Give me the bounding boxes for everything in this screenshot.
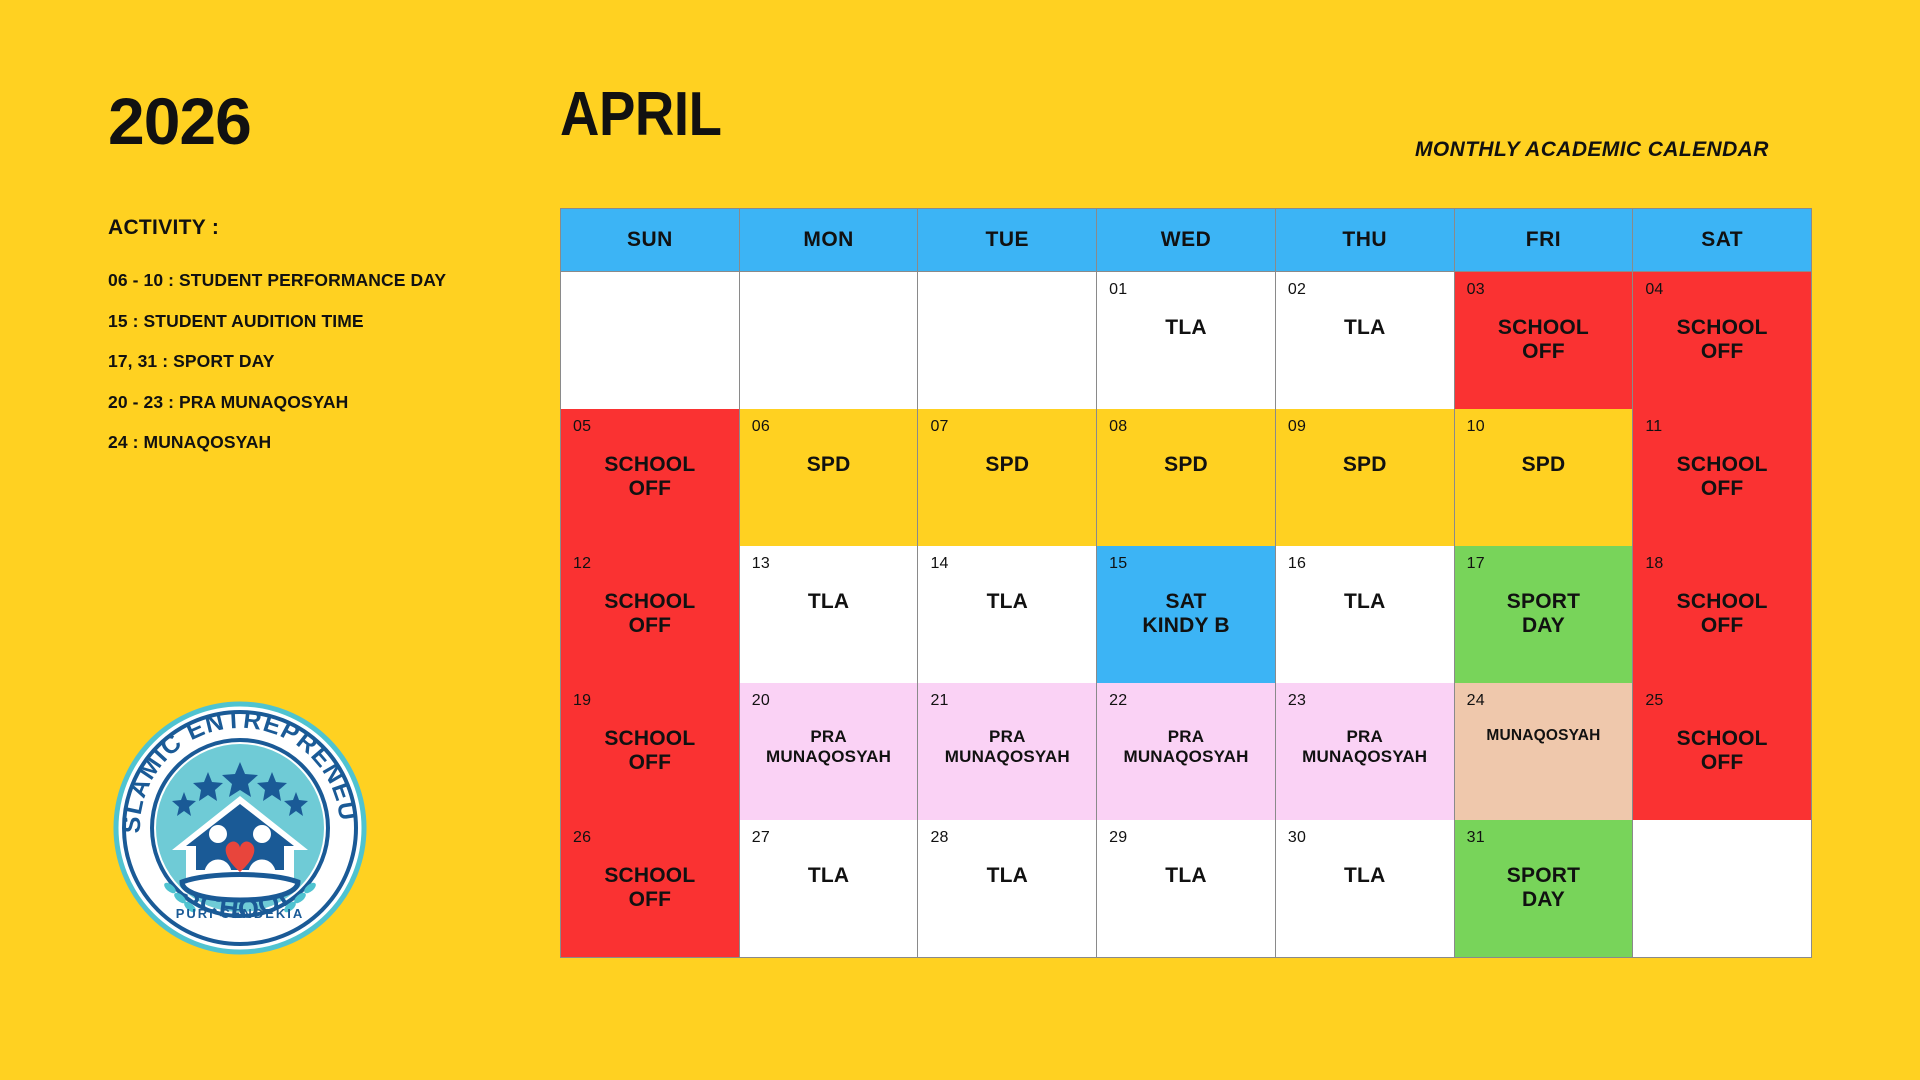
calendar-week-row: 12SCHOOL OFF13TLA14TLA15SAT KINDY B16TLA… (561, 546, 1811, 683)
year-heading: 2026 (108, 88, 251, 154)
day-number: 19 (573, 693, 731, 709)
day-number: 13 (752, 556, 910, 572)
calendar-day-cell[interactable]: 25SCHOOL OFF (1633, 683, 1811, 820)
day-event-label: SCHOOL OFF (567, 453, 733, 501)
day-number: 30 (1288, 830, 1446, 846)
weekday-header-tue: TUE (918, 209, 1096, 271)
month-title: APRIL (560, 84, 721, 146)
calendar-day-cell[interactable]: 11SCHOOL OFF (1633, 409, 1811, 546)
calendar-weeks: 01TLA02TLA03SCHOOL OFF04SCHOOL OFF05SCHO… (561, 272, 1811, 957)
day-number: 21 (930, 693, 1088, 709)
activity-item: 15 : STUDENT AUDITION TIME (108, 313, 538, 331)
calendar-day-cell[interactable]: 28TLA (918, 820, 1096, 957)
day-event-label: MUNAQOSYAH (1461, 727, 1627, 745)
day-number: 15 (1109, 556, 1267, 572)
day-event-label: SPD (1461, 453, 1627, 477)
calendar-day-cell[interactable]: 16TLA (1276, 546, 1454, 683)
day-event-label: SPORT DAY (1461, 864, 1627, 912)
day-event-label: TLA (924, 864, 1090, 888)
calendar-week-row: 26SCHOOL OFF27TLA28TLA29TLA30TLA31SPORT … (561, 820, 1811, 957)
weekday-header-sat: SAT (1633, 209, 1811, 271)
day-number: 03 (1467, 282, 1625, 298)
calendar-day-cell[interactable]: 02TLA (1276, 272, 1454, 409)
activity-item: 06 - 10 : STUDENT PERFORMANCE DAY (108, 272, 538, 290)
day-event-label: SPD (924, 453, 1090, 477)
activity-item: 20 - 23 : PRA MUNAQOSYAH (108, 394, 538, 412)
book-icon (182, 875, 298, 901)
day-event-label: TLA (1282, 590, 1448, 614)
calendar-week-row: 01TLA02TLA03SCHOOL OFF04SCHOOL OFF (561, 272, 1811, 409)
calendar-day-cell[interactable]: 13TLA (740, 546, 918, 683)
day-event-label: SCHOOL OFF (1639, 590, 1805, 638)
calendar-day-cell[interactable]: 14TLA (918, 546, 1096, 683)
day-number: 11 (1645, 419, 1803, 435)
day-number: 09 (1288, 419, 1446, 435)
day-number: 18 (1645, 556, 1803, 572)
day-event-label: TLA (1103, 864, 1269, 888)
day-event-label: PRA MUNAQOSYAH (1282, 727, 1448, 766)
calendar-day-cell[interactable]: 31SPORT DAY (1455, 820, 1633, 957)
calendar-day-cell[interactable]: 24MUNAQOSYAH (1455, 683, 1633, 820)
day-event-label: SPD (1103, 453, 1269, 477)
calendar-week-row: 19SCHOOL OFF20PRA MUNAQOSYAH21PRA MUNAQO… (561, 683, 1811, 820)
day-number: 01 (1109, 282, 1267, 298)
weekday-header-mon: MON (740, 209, 918, 271)
calendar-day-cell[interactable]: 30TLA (1276, 820, 1454, 957)
activity-list: 06 - 10 : STUDENT PERFORMANCE DAY 15 : S… (108, 272, 538, 475)
day-number: 26 (573, 830, 731, 846)
calendar-day-cell[interactable]: 09SPD (1276, 409, 1454, 546)
calendar-day-cell[interactable]: 20PRA MUNAQOSYAH (740, 683, 918, 820)
day-number: 28 (930, 830, 1088, 846)
day-event-label: SPD (1282, 453, 1448, 477)
day-number: 07 (930, 419, 1088, 435)
logo-inner-text: PURI CENDEKIA (176, 906, 305, 921)
calendar-day-cell[interactable]: 15SAT KINDY B (1097, 546, 1275, 683)
calendar-subtitle: MONTHLY ACADEMIC CALENDAR (1415, 138, 1769, 162)
day-number: 31 (1467, 830, 1625, 846)
day-event-label: TLA (746, 590, 912, 614)
day-event-label: SPD (746, 453, 912, 477)
day-number: 02 (1288, 282, 1446, 298)
calendar-empty-cell (561, 272, 739, 409)
calendar-day-cell[interactable]: 10SPD (1455, 409, 1633, 546)
calendar-empty-cell (740, 272, 918, 409)
day-number: 29 (1109, 830, 1267, 846)
day-event-label: SCHOOL OFF (567, 864, 733, 912)
calendar-day-cell[interactable]: 05SCHOOL OFF (561, 409, 739, 546)
calendar-day-cell[interactable]: 22PRA MUNAQOSYAH (1097, 683, 1275, 820)
day-number: 25 (1645, 693, 1803, 709)
calendar-day-cell[interactable]: 26SCHOOL OFF (561, 820, 739, 957)
calendar-empty-cell (1633, 820, 1811, 957)
day-event-label: TLA (1103, 316, 1269, 340)
day-event-label: SCHOOL OFF (567, 727, 733, 775)
calendar-grid: SUN MON TUE WED THU FRI SAT 01TLA02TLA03… (560, 208, 1812, 958)
calendar-day-cell[interactable]: 18SCHOOL OFF (1633, 546, 1811, 683)
day-event-label: SCHOOL OFF (1639, 727, 1805, 775)
day-event-label: SAT KINDY B (1103, 590, 1269, 638)
day-event-label: SCHOOL OFF (567, 590, 733, 638)
calendar-day-cell[interactable]: 07SPD (918, 409, 1096, 546)
calendar-day-cell[interactable]: 08SPD (1097, 409, 1275, 546)
day-number: 12 (573, 556, 731, 572)
calendar-day-cell[interactable]: 01TLA (1097, 272, 1275, 409)
day-event-label: TLA (1282, 316, 1448, 340)
day-number: 08 (1109, 419, 1267, 435)
day-number: 04 (1645, 282, 1803, 298)
day-event-label: TLA (746, 864, 912, 888)
day-event-label: TLA (924, 590, 1090, 614)
day-event-label: PRA MUNAQOSYAH (1103, 727, 1269, 766)
day-number: 20 (752, 693, 910, 709)
calendar-day-cell[interactable]: 12SCHOOL OFF (561, 546, 739, 683)
calendar-day-cell[interactable]: 21PRA MUNAQOSYAH (918, 683, 1096, 820)
weekday-header-wed: WED (1097, 209, 1275, 271)
activity-item: 24 : MUNAQOSYAH (108, 434, 538, 452)
day-number: 05 (573, 419, 731, 435)
day-number: 24 (1467, 693, 1625, 709)
day-event-label: SCHOOL OFF (1639, 453, 1805, 501)
school-logo: ISLAMIC ENTREPRENEUR SCHOOL (112, 700, 368, 956)
activity-section-title: ACTIVITY : (108, 216, 219, 240)
calendar-day-cell[interactable]: 03SCHOOL OFF (1455, 272, 1633, 409)
day-event-label: SCHOOL OFF (1639, 316, 1805, 364)
calendar-day-cell[interactable]: 27TLA (740, 820, 918, 957)
calendar-empty-cell (918, 272, 1096, 409)
day-event-label: SPORT DAY (1461, 590, 1627, 638)
weekday-header-sun: SUN (561, 209, 739, 271)
day-event-label: SCHOOL OFF (1461, 316, 1627, 364)
day-number: 10 (1467, 419, 1625, 435)
calendar-day-cell[interactable]: 23PRA MUNAQOSYAH (1276, 683, 1454, 820)
calendar-day-cell[interactable]: 29TLA (1097, 820, 1275, 957)
day-event-label: PRA MUNAQOSYAH (746, 727, 912, 766)
day-number: 06 (752, 419, 910, 435)
activity-item: 17, 31 : SPORT DAY (108, 353, 538, 371)
calendar-day-cell[interactable]: 04SCHOOL OFF (1633, 272, 1811, 409)
day-event-label: PRA MUNAQOSYAH (924, 727, 1090, 766)
calendar-day-cell[interactable]: 06SPD (740, 409, 918, 546)
day-number: 16 (1288, 556, 1446, 572)
day-event-label: TLA (1282, 864, 1448, 888)
day-number: 23 (1288, 693, 1446, 709)
day-number: 17 (1467, 556, 1625, 572)
calendar-week-row: 05SCHOOL OFF06SPD07SPD08SPD09SPD10SPD11S… (561, 409, 1811, 546)
weekday-header-row: SUN MON TUE WED THU FRI SAT (561, 209, 1811, 271)
weekday-header-fri: FRI (1455, 209, 1633, 271)
day-number: 27 (752, 830, 910, 846)
day-number: 14 (930, 556, 1088, 572)
calendar-day-cell[interactable]: 17SPORT DAY (1455, 546, 1633, 683)
weekday-header-thu: THU (1276, 209, 1454, 271)
calendar-day-cell[interactable]: 19SCHOOL OFF (561, 683, 739, 820)
left-info-panel: 2026 ACTIVITY : 06 - 10 : STUDENT PERFOR… (0, 0, 560, 1080)
day-number: 22 (1109, 693, 1267, 709)
